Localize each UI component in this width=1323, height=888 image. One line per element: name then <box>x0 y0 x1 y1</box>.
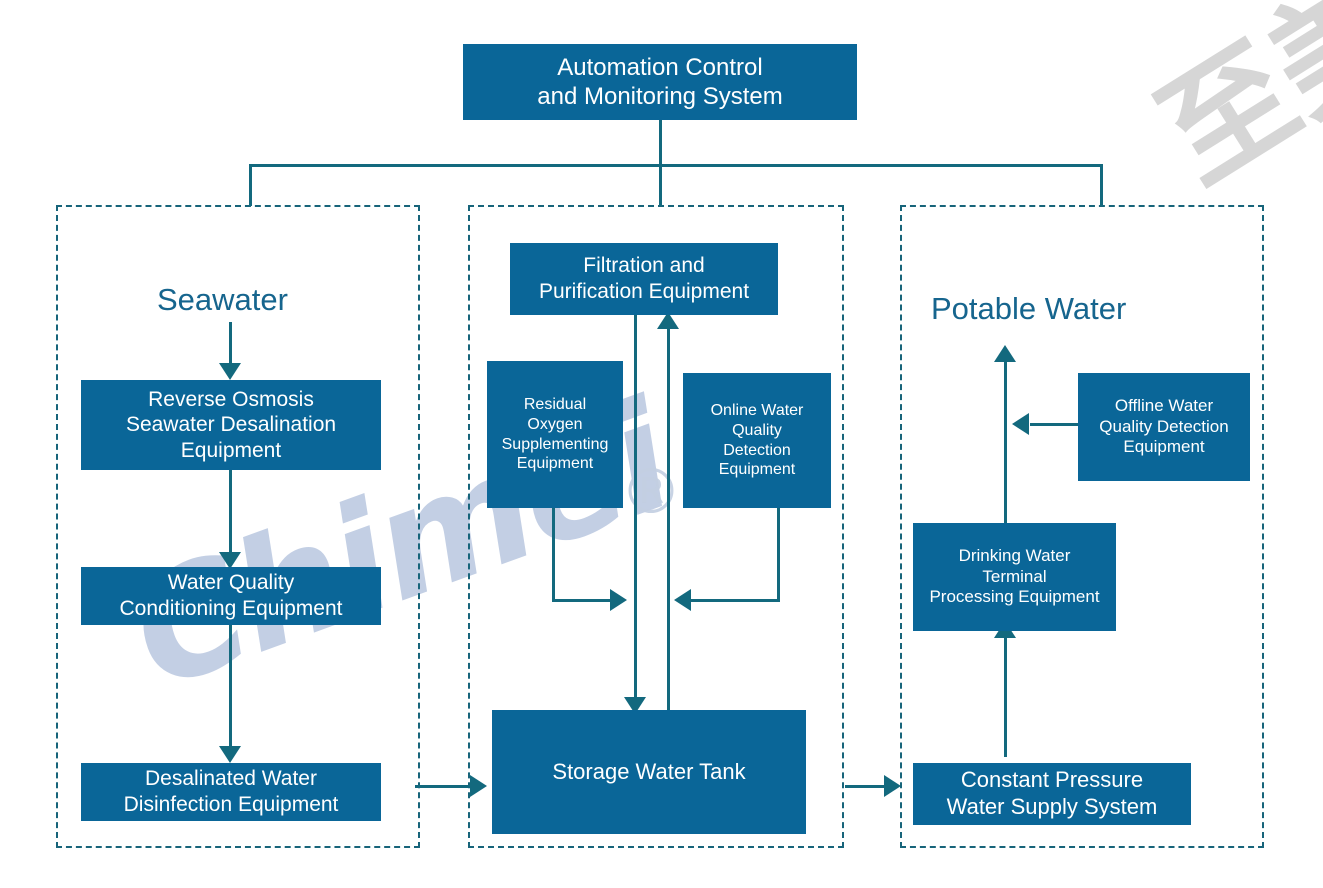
node-offline-water-quality-detection[interactable]: Offline Water Quality Detection Equipmen… <box>1078 373 1250 481</box>
node-offline-detection-line1: Offline Water <box>1111 396 1217 417</box>
node-automation-control-line1: Automation Control <box>553 53 766 82</box>
connector-supply-to-terminal <box>1004 631 1007 757</box>
node-constant-pressure-supply[interactable]: Constant Pressure Water Supply System <box>913 763 1191 825</box>
node-online-detection-line2: Quality <box>728 421 786 441</box>
node-residual-oxygen-line1: Residual <box>520 395 590 415</box>
node-automation-control[interactable]: Automation Control and Monitoring System <box>463 44 857 120</box>
node-reverse-osmosis-line3: Equipment <box>177 438 285 464</box>
arrowhead-seawater-to-ro <box>219 363 241 380</box>
node-terminal-processing-line1: Drinking Water <box>955 546 1075 567</box>
node-water-quality-conditioning-line2: Conditioning Equipment <box>116 596 347 622</box>
connector-automation-bus <box>250 164 1103 167</box>
connector-terminal-to-potable <box>1004 358 1007 524</box>
node-residual-oxygen-line3: Supplementing <box>498 435 613 455</box>
connector-residual-oxygen-drop <box>552 507 555 601</box>
arrowhead-offline-detection <box>1012 413 1029 435</box>
arrowhead-conditioning-to-disinfection <box>219 746 241 763</box>
node-water-quality-conditioning[interactable]: Water Quality Conditioning Equipment <box>81 567 381 625</box>
connector-automation-to-left-panel <box>249 164 252 206</box>
node-reverse-osmosis[interactable]: Reverse Osmosis Seawater Desalination Eq… <box>81 380 381 470</box>
node-terminal-processing-line3: Processing Equipment <box>925 587 1103 608</box>
node-reverse-osmosis-line2: Seawater Desalination <box>122 412 340 438</box>
connector-storage-to-filtration <box>667 325 670 710</box>
connector-disinfection-to-storage <box>415 785 475 788</box>
arrowhead-residual-oxygen <box>610 589 627 611</box>
node-filtration-purification[interactable]: Filtration and Purification Equipment <box>510 243 778 315</box>
arrowhead-disinfection-to-storage <box>470 775 487 797</box>
heading-potable-water: Potable Water <box>931 291 1126 327</box>
node-online-water-quality-detection[interactable]: Online Water Quality Detection Equipment <box>683 373 831 508</box>
connector-online-detection-drop <box>777 507 780 601</box>
node-filtration-purification-line2: Purification Equipment <box>535 279 753 305</box>
node-desalinated-disinfection-line2: Disinfection Equipment <box>120 792 343 818</box>
arrowhead-terminal-to-potable <box>994 345 1016 362</box>
node-residual-oxygen-line4: Equipment <box>513 454 598 474</box>
node-drinking-water-terminal[interactable]: Drinking Water Terminal Processing Equip… <box>913 523 1116 631</box>
connector-ro-to-conditioning <box>229 469 232 559</box>
connector-offline-detection-to-main <box>1030 423 1078 426</box>
arrowhead-storage-to-supply <box>884 775 901 797</box>
node-online-detection-line1: Online Water <box>707 401 808 421</box>
connector-filtration-to-storage <box>634 314 637 706</box>
node-filtration-purification-line1: Filtration and <box>579 253 708 279</box>
node-residual-oxygen[interactable]: Residual Oxygen Supplementing Equipment <box>487 361 623 508</box>
connector-seawater-to-ro <box>229 322 232 366</box>
connector-automation-to-right-panel <box>1100 164 1103 206</box>
node-desalinated-disinfection[interactable]: Desalinated Water Disinfection Equipment <box>81 763 381 821</box>
connector-online-detection-to-main <box>690 599 780 602</box>
flow-diagram: Chimei ® 至美环境 <box>0 0 1323 888</box>
connector-conditioning-to-disinfection <box>229 623 232 751</box>
node-online-detection-line3: Detection <box>719 441 795 461</box>
connector-automation-to-middle-panel <box>659 164 662 206</box>
node-constant-pressure-line1: Constant Pressure <box>957 767 1147 794</box>
node-constant-pressure-line2: Water Supply System <box>943 794 1162 821</box>
node-desalinated-disinfection-line1: Desalinated Water <box>141 766 321 792</box>
node-online-detection-line4: Equipment <box>715 460 800 480</box>
node-terminal-processing-line2: Terminal <box>978 567 1050 588</box>
node-residual-oxygen-line2: Oxygen <box>523 415 586 435</box>
node-storage-water-tank[interactable]: Storage Water Tank <box>492 710 806 834</box>
connector-residual-oxygen-to-main <box>552 599 614 602</box>
node-storage-water-tank-label: Storage Water Tank <box>548 759 749 786</box>
heading-seawater: Seawater <box>157 282 288 318</box>
node-offline-detection-line3: Equipment <box>1119 437 1208 458</box>
connector-automation-stem <box>659 119 662 166</box>
node-automation-control-line2: and Monitoring System <box>533 82 786 111</box>
arrowhead-online-detection <box>674 589 691 611</box>
node-water-quality-conditioning-line1: Water Quality <box>164 570 298 596</box>
node-offline-detection-line2: Quality Detection <box>1095 417 1232 438</box>
node-reverse-osmosis-line1: Reverse Osmosis <box>144 387 318 413</box>
